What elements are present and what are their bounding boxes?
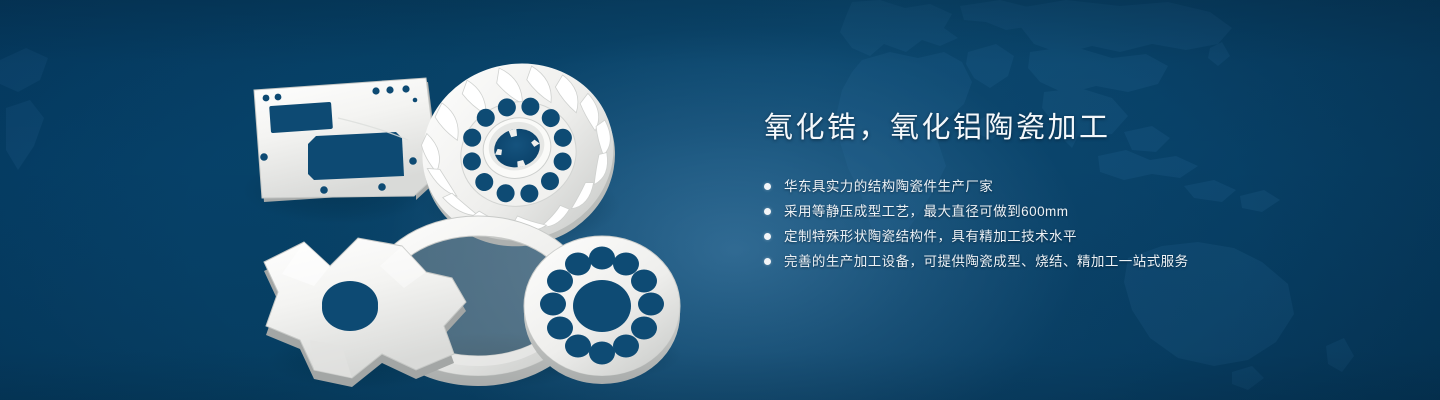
ceramic-components-artwork — [230, 40, 710, 385]
feature-text: 华东具实力的结构陶瓷件生产厂家 — [784, 174, 993, 199]
list-item: 定制特殊形状陶瓷结构件，具有精加工技术水平 — [764, 224, 1324, 249]
feature-text: 完善的生产加工设备，可提供陶瓷成型、烧结、精加工一站式服务 — [784, 249, 1189, 274]
part-perforated-disc — [524, 236, 680, 384]
list-item: 华东具实力的结构陶瓷件生产厂家 — [764, 174, 1324, 199]
feature-text: 定制特殊形状陶瓷结构件，具有精加工技术水平 — [784, 224, 1077, 249]
part-ceramic-plate — [254, 78, 440, 202]
bullet-dot-icon — [764, 258, 771, 265]
list-item: 完善的生产加工设备，可提供陶瓷成型、烧结、精加工一站式服务 — [764, 249, 1324, 274]
bullet-dot-icon — [764, 208, 771, 215]
bullet-dot-icon — [764, 183, 771, 190]
banner-copy: 氧化锆，氧化铝陶瓷加工 华东具实力的结构陶瓷件生产厂家 采用等静压成型工艺，最大… — [764, 108, 1324, 274]
bullet-dot-icon — [764, 233, 771, 240]
feature-text: 采用等静压成型工艺，最大直径可做到600mm — [784, 199, 1068, 224]
list-item: 采用等静压成型工艺，最大直径可做到600mm — [764, 199, 1324, 224]
hero-banner: 氧化锆，氧化铝陶瓷加工 华东具实力的结构陶瓷件生产厂家 采用等静压成型工艺，最大… — [0, 0, 1440, 400]
feature-list: 华东具实力的结构陶瓷件生产厂家 采用等静压成型工艺，最大直径可做到600mm 定… — [764, 174, 1324, 274]
page-title: 氧化锆，氧化铝陶瓷加工 — [764, 108, 1324, 148]
